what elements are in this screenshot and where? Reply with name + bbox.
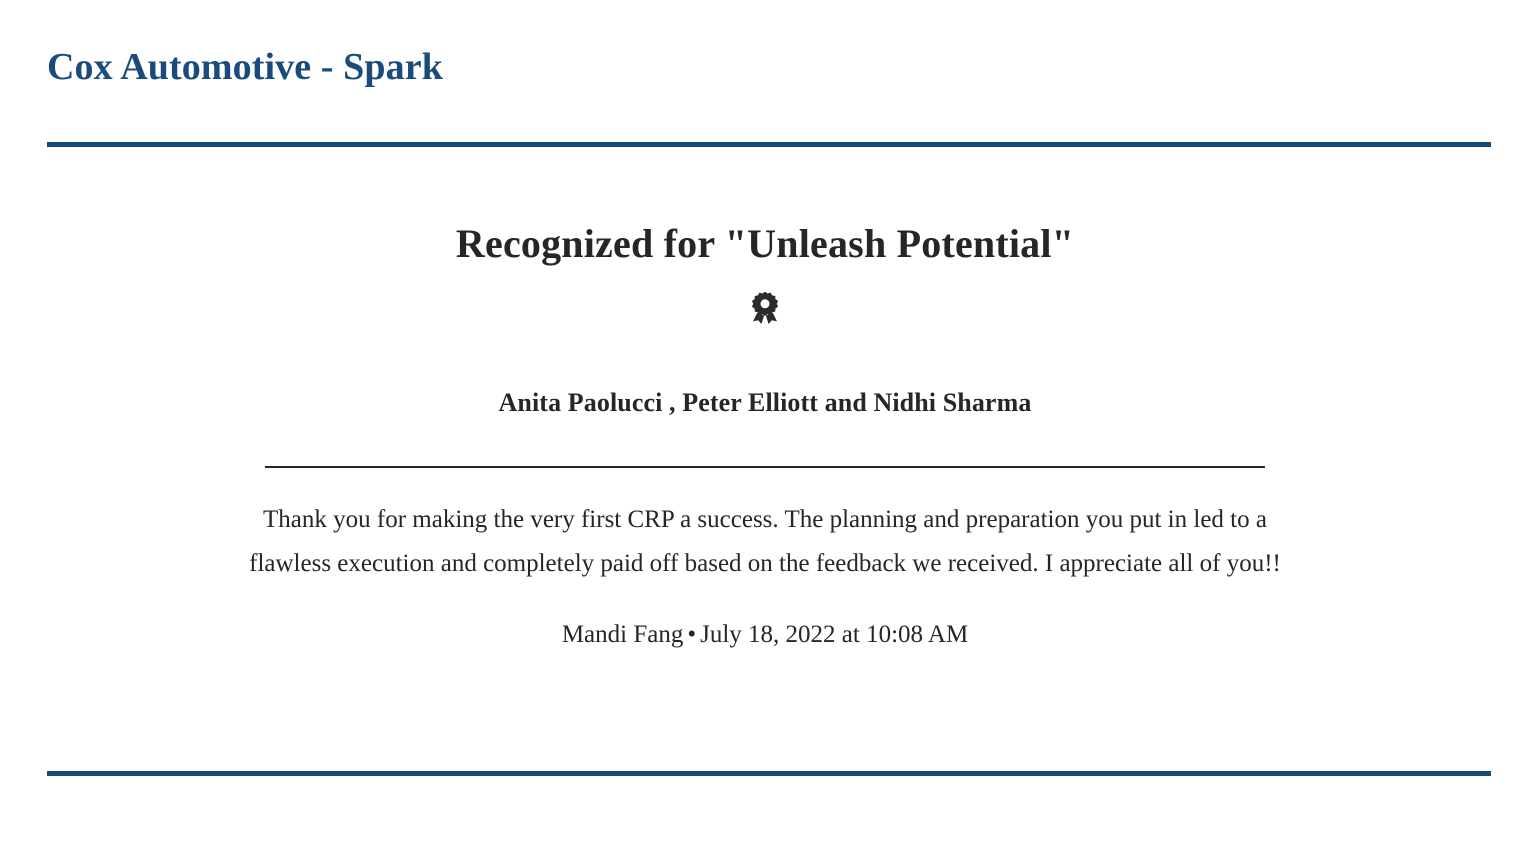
badge-container (0, 288, 1530, 328)
recognition-title: Recognized for "Unleash Potential" (0, 160, 1530, 270)
content-divider (265, 466, 1265, 468)
award-ribbon-icon (750, 291, 780, 325)
recognition-message: Thank you for making the very first CRP … (230, 498, 1300, 586)
page-title: Cox Automotive - Spark (47, 44, 1492, 90)
recognition-card: Recognized for "Unleash Potential" Anita… (0, 160, 1530, 652)
signature-line: Mandi Fang•July 18, 2022 at 10:08 AM (0, 618, 1530, 652)
bullet-separator: • (683, 621, 700, 648)
footer-divider-bar (47, 771, 1491, 776)
author-name: Mandi Fang (562, 621, 684, 648)
header-divider-bar (47, 142, 1491, 147)
recognition-page: Cox Automotive - Spark Recognized for "U… (0, 0, 1530, 866)
timestamp: July 18, 2022 at 10:08 AM (700, 621, 968, 648)
app-header: Cox Automotive - Spark (47, 44, 1492, 90)
recipients-names: Anita Paolucci , Peter Elliott and Nidhi… (0, 328, 1530, 420)
